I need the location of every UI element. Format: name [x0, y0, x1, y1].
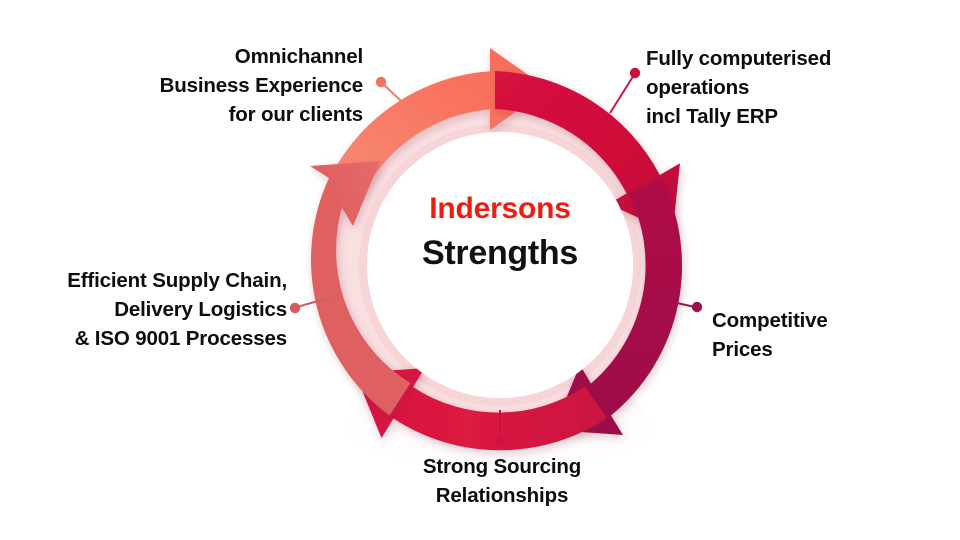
connector-computerised [610, 68, 640, 113]
center-disc [367, 132, 633, 398]
label-strong-sourcing: Strong Sourcing Relationships [382, 452, 622, 510]
label-computerised: Fully computerised operations incl Tally… [646, 44, 946, 131]
slide-canvas: Indersons Strengths Omnichannel Business… [0, 0, 960, 540]
label-omnichannel: Omnichannel Business Experience for our … [18, 42, 363, 129]
label-competitive-prices: Competitive Prices [712, 306, 932, 364]
label-supply-chain: Efficient Supply Chain, Delivery Logisti… [12, 266, 287, 353]
